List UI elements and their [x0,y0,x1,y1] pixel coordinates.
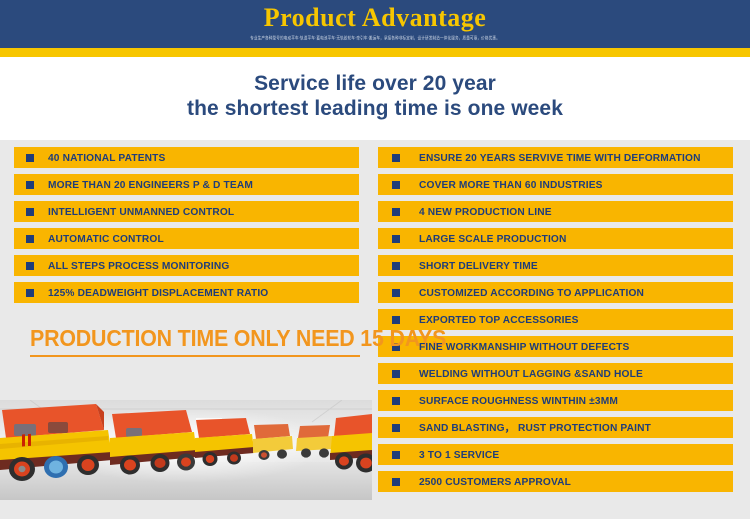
feature-item: COVER MORE THAN 60 INDUSTRIES [378,174,733,195]
feature-label: ENSURE 20 YEARS SERVIVE TIME WITH DEFORM… [419,152,701,164]
promo-underline [30,355,360,357]
feature-label: 3 TO 1 SERVICE [419,449,499,461]
feature-label: 4 NEW PRODUCTION LINE [419,206,552,218]
page-title: Product Advantage [264,3,487,33]
headline-block: Service life over 20 year the shortest l… [0,57,750,137]
feature-label: FINE WORKMANSHIP WITHOUT DEFECTS [419,341,629,353]
feature-label: 2500 CUSTOMERS APPROVAL [419,476,571,488]
page-header: Product Advantage 专业生产各种型号的电动平车·轨道平车·蓄电池… [0,0,750,48]
square-bullet-icon [392,154,400,162]
feature-item: CUSTOMIZED ACCORDING TO APPLICATION [378,282,733,303]
feature-item: ALL STEPS PROCESS MONITORING [14,255,359,276]
feature-label: SURFACE ROUGHNESS WINTHIN ±3MM [419,395,618,407]
square-bullet-icon [392,478,400,486]
right-feature-column: ENSURE 20 YEARS SERVIVE TIME WITH DEFORM… [370,140,750,498]
square-bullet-icon [26,181,34,189]
feature-label: 125% DEADWEIGHT DISPLACEMENT RATIO [48,287,268,299]
left-feature-column: 40 NATIONAL PATENTS MORE THAN 20 ENGINEE… [0,140,370,357]
feature-item: AUTOMATIC CONTROL [14,228,359,249]
feature-label: WELDING WITHOUT LAGGING &SAND HOLE [419,368,643,380]
feature-label: 40 NATIONAL PATENTS [48,152,165,164]
feature-label: SHORT DELIVERY TIME [419,260,538,272]
product-photo [0,400,372,500]
square-bullet-icon [392,424,400,432]
header-subtitle-chinese: 专业生产各种型号的电动平车·轨道平车·蓄电池平车·无轨胶轮车·牵引车·搬运车，承… [250,34,500,42]
feature-label: CUSTOMIZED ACCORDING TO APPLICATION [419,287,644,299]
feature-label: EXPORTED TOP ACCESSORIES [419,314,579,326]
feature-label: SAND BLASTING， RUST PROTECTION PAINT [419,420,651,435]
square-bullet-icon [392,370,400,378]
square-bullet-icon [26,208,34,216]
feature-item: SURFACE ROUGHNESS WINTHIN ±3MM [378,390,733,411]
square-bullet-icon [392,451,400,459]
square-bullet-icon [392,289,400,297]
headline-line-2: the shortest leading time is one week [0,96,750,121]
feature-label: INTELLIGENT UNMANNED CONTROL [48,206,234,218]
square-bullet-icon [392,235,400,243]
feature-item: ENSURE 20 YEARS SERVIVE TIME WITH DEFORM… [378,147,733,168]
feature-item: 4 NEW PRODUCTION LINE [378,201,733,222]
square-bullet-icon [392,262,400,270]
feature-item: WELDING WITHOUT LAGGING &SAND HOLE [378,363,733,384]
promo-headline: PRODUCTION TIME ONLY NEED 15 DAYS [30,325,346,351]
square-bullet-icon [26,289,34,297]
square-bullet-icon [392,397,400,405]
headline-line-1: Service life over 20 year [0,71,750,96]
feature-item: 3 TO 1 SERVICE [378,444,733,465]
feature-item: 40 NATIONAL PATENTS [14,147,359,168]
feature-item: SAND BLASTING， RUST PROTECTION PAINT [378,417,733,438]
feature-item: LARGE SCALE PRODUCTION [378,228,733,249]
header-accent-rule [0,48,750,57]
square-bullet-icon [392,316,400,324]
feature-label: ALL STEPS PROCESS MONITORING [48,260,229,272]
square-bullet-icon [26,235,34,243]
feature-label: LARGE SCALE PRODUCTION [419,233,567,245]
square-bullet-icon [26,262,34,270]
feature-item: 125% DEADWEIGHT DISPLACEMENT RATIO [14,282,359,303]
feature-item: 2500 CUSTOMERS APPROVAL [378,471,733,492]
feature-item: INTELLIGENT UNMANNED CONTROL [14,201,359,222]
feature-item: SHORT DELIVERY TIME [378,255,733,276]
feature-label: MORE THAN 20 ENGINEERS P & D TEAM [48,179,253,191]
square-bullet-icon [26,154,34,162]
feature-label: COVER MORE THAN 60 INDUSTRIES [419,179,603,191]
promo-block: PRODUCTION TIME ONLY NEED 15 DAYS [14,325,370,357]
square-bullet-icon [392,181,400,189]
feature-item: MORE THAN 20 ENGINEERS P & D TEAM [14,174,359,195]
square-bullet-icon [392,208,400,216]
feature-label: AUTOMATIC CONTROL [48,233,164,245]
